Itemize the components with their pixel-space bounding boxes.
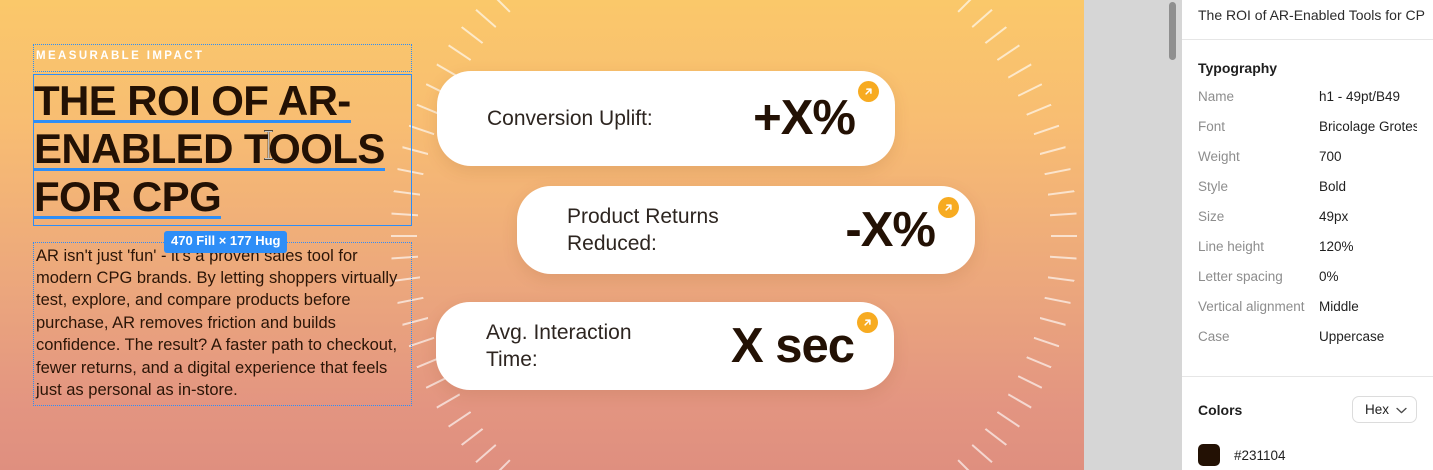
property-key: Letter spacing <box>1198 269 1319 284</box>
colors-section: Colors Hex #231104 <box>1182 377 1433 466</box>
property-key: Name <box>1198 89 1319 104</box>
property-value: 120% <box>1319 239 1354 254</box>
property-value: 49px <box>1319 209 1348 224</box>
property-row-letter-spacing: Letter spacing 0% <box>1198 269 1417 299</box>
property-key: Case <box>1198 329 1319 344</box>
property-key: Vertical alignment <box>1198 299 1319 314</box>
property-value: 0% <box>1319 269 1339 284</box>
stat-card[interactable]: Conversion Uplift: +X% <box>437 71 895 166</box>
stat-card[interactable]: Avg. Interaction Time: X sec <box>436 302 894 390</box>
chevron-down-icon <box>1396 402 1407 417</box>
property-row-size: Size 49px <box>1198 209 1417 239</box>
page-title: THE ROI OF AR- ENABLED TOOLS FOR CPG <box>34 77 411 221</box>
property-value: Middle <box>1319 299 1359 314</box>
arrow-up-right-icon[interactable] <box>858 81 879 102</box>
stat-card-label: Product Returns Reduced: <box>567 203 767 257</box>
property-row-name: Name h1 - 49pt/B49 <box>1198 89 1417 119</box>
property-value: Uppercase <box>1319 329 1384 344</box>
headline-line-3: FOR CPG <box>34 173 221 221</box>
color-swatch-row[interactable]: #231104 <box>1198 423 1417 466</box>
arrow-up-right-icon[interactable] <box>857 312 878 333</box>
colors-header: Colors Hex <box>1198 377 1417 423</box>
property-value: Bricolage Grotes <box>1319 119 1417 134</box>
eyebrow-text: MEASURABLE IMPACT <box>36 51 409 63</box>
property-key: Size <box>1198 209 1319 224</box>
text-column: MEASURABLE IMPACT THE ROI OF AR- ENABLED… <box>33 44 412 406</box>
size-badge: 470 Fill × 177 Hug <box>164 231 287 253</box>
arrow-up-right-icon[interactable] <box>938 197 959 218</box>
property-row-line-height: Line height 120% <box>1198 239 1417 269</box>
stat-card-value: -X% <box>845 206 935 255</box>
property-key: Style <box>1198 179 1319 194</box>
property-key: Font <box>1198 119 1319 134</box>
stat-card-label: Avg. Interaction Time: <box>486 319 686 373</box>
design-inspect-app: MEASURABLE IMPACT THE ROI OF AR- ENABLED… <box>0 0 1433 470</box>
inspect-panel: The ROI of AR-Enabled Tools for CP Typog… <box>1182 0 1433 470</box>
property-row-case: Case Uppercase <box>1198 329 1417 359</box>
property-value: Bold <box>1319 179 1346 194</box>
property-row-weight: Weight 700 <box>1198 149 1417 179</box>
colors-heading: Colors <box>1198 402 1242 418</box>
property-row-vertical-alignment: Vertical alignment Middle <box>1198 299 1417 329</box>
property-row-style: Style Bold <box>1198 179 1417 209</box>
body-selection-box[interactable]: AR isn't just 'fun' - it's a proven sale… <box>33 242 412 407</box>
color-format-select[interactable]: Hex <box>1352 396 1417 423</box>
artboard[interactable]: MEASURABLE IMPACT THE ROI OF AR- ENABLED… <box>0 0 1084 470</box>
property-key: Weight <box>1198 149 1319 164</box>
color-hex-value: #231104 <box>1234 448 1286 463</box>
headline-line-1: THE ROI OF AR- <box>34 77 351 125</box>
canvas-viewport[interactable]: MEASURABLE IMPACT THE ROI OF AR- ENABLED… <box>0 0 1084 470</box>
headline-selection-box[interactable]: THE ROI OF AR- ENABLED TOOLS FOR CPG <box>33 74 412 226</box>
scrollbar-thumb[interactable] <box>1169 2 1176 60</box>
property-row-font: Font Bricolage Grotes <box>1198 119 1417 149</box>
color-format-label: Hex <box>1365 402 1389 417</box>
color-swatch <box>1198 444 1220 466</box>
stat-card-label: Conversion Uplift: <box>487 105 653 132</box>
stat-card[interactable]: Product Returns Reduced: -X% <box>517 186 975 274</box>
property-key: Line height <box>1198 239 1319 254</box>
eyebrow-selection-box[interactable]: MEASURABLE IMPACT <box>33 44 412 72</box>
vertical-scrollbar[interactable] <box>1168 0 1176 470</box>
typography-section: Typography Name h1 - 49pt/B49 Font Brico… <box>1182 40 1433 359</box>
canvas-gutter <box>1084 0 1182 470</box>
typography-heading: Typography <box>1198 40 1417 89</box>
property-value: h1 - 49pt/B49 <box>1319 89 1400 104</box>
headline-line-2: ENABLED TOOLS <box>34 125 385 173</box>
stat-card-value: +X% <box>753 94 855 143</box>
stat-card-value: X sec <box>731 322 854 371</box>
property-value: 700 <box>1319 149 1342 164</box>
body-paragraph: AR isn't just 'fun' - it's a proven sale… <box>36 245 409 402</box>
panel-title: The ROI of AR-Enabled Tools for CP <box>1182 0 1433 26</box>
